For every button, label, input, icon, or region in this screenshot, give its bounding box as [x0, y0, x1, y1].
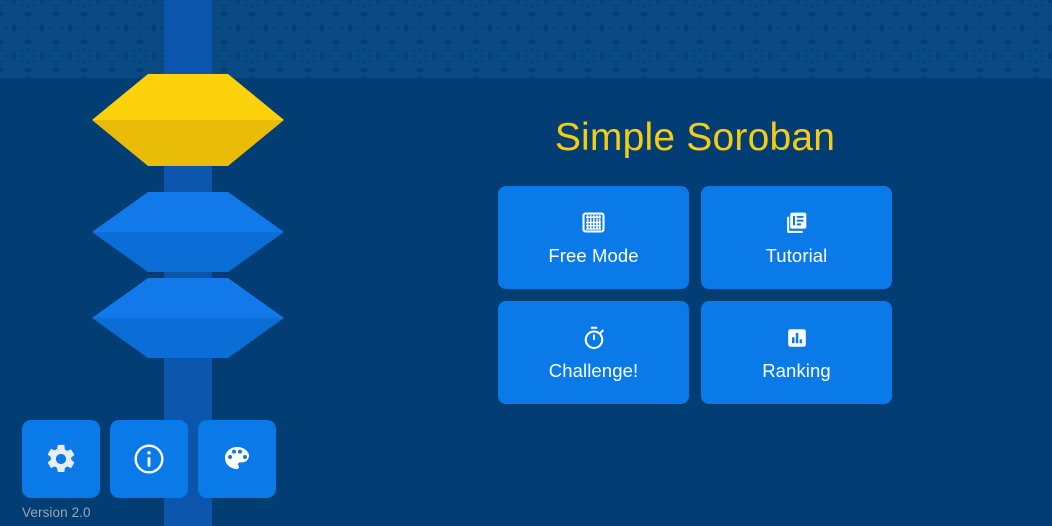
- page-title: Simple Soroban: [498, 118, 892, 157]
- bottom-toolbar: [22, 420, 276, 498]
- bar-chart-icon: [785, 325, 809, 351]
- menu-card-label: Ranking: [762, 362, 831, 381]
- version-label: Version 2.0: [22, 505, 91, 520]
- menu-card-challenge[interactable]: Challenge!: [498, 301, 689, 404]
- abacus-icon: [581, 210, 606, 236]
- stopwatch-icon: [581, 325, 607, 351]
- heaven-bead[interactable]: [92, 74, 284, 166]
- menu-card-ranking[interactable]: Ranking: [701, 301, 892, 404]
- main-panel: Simple Soroban: [498, 118, 892, 404]
- earth-bead-2[interactable]: [92, 278, 284, 358]
- menu-card-label: Free Mode: [548, 247, 638, 266]
- menu-card-label: Tutorial: [766, 247, 828, 266]
- palette-icon: [221, 443, 253, 475]
- menu-card-free-mode[interactable]: Free Mode: [498, 186, 689, 289]
- gear-icon: [44, 442, 78, 476]
- settings-button[interactable]: [22, 420, 100, 498]
- menu-card-tutorial[interactable]: Tutorial: [701, 186, 892, 289]
- menu-grid: Free Mode Tutorial: [498, 186, 892, 404]
- theme-button[interactable]: [198, 420, 276, 498]
- menu-card-label: Challenge!: [549, 362, 638, 381]
- earth-bead-1[interactable]: [92, 192, 284, 272]
- about-button[interactable]: [110, 420, 188, 498]
- info-icon: [132, 442, 166, 476]
- app-root: Version 2.0 Simple Soroban: [0, 0, 1052, 526]
- article-icon: [784, 210, 809, 236]
